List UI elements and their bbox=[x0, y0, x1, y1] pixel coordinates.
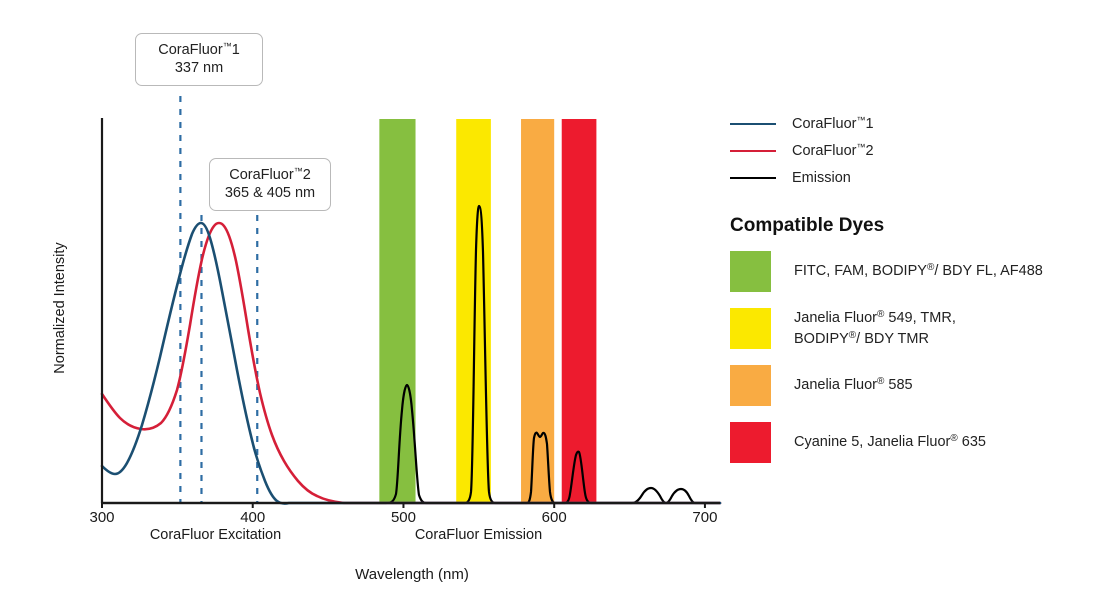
y-axis-label: Normalized Intensity bbox=[52, 213, 68, 403]
dye-band-red bbox=[562, 119, 597, 503]
callout-corafluor2-line2: 365 & 405 nm bbox=[220, 184, 320, 202]
legend-line-swatch bbox=[730, 177, 776, 179]
trademark-icon: ™ bbox=[223, 41, 232, 51]
callout-corafluor1-line1: CoraFluor™1 bbox=[146, 41, 252, 59]
legend-series-row-3: Emission bbox=[730, 164, 1100, 191]
legend-dye-label: Janelia Fluor® 585 bbox=[794, 375, 913, 396]
region-label-emission: CoraFluor Emission bbox=[406, 527, 551, 543]
x-tick-label-300: 300 bbox=[72, 509, 132, 526]
legend-series-row-1: CoraFluor™1 bbox=[730, 110, 1100, 137]
registered-icon: ® bbox=[849, 330, 856, 341]
trademark-icon: ™ bbox=[856, 115, 865, 125]
spectra-figure: CoraFluor™1 337 nm CoraFluor™2 365 & 405… bbox=[0, 0, 1110, 612]
trademark-icon: ™ bbox=[294, 166, 303, 176]
legend-dye-row-4: Cyanine 5, Janelia Fluor® 635 bbox=[730, 422, 1100, 463]
legend-line-swatch bbox=[730, 150, 776, 152]
legend-color-swatch bbox=[730, 251, 771, 292]
compatible-dyes-heading: Compatible Dyes bbox=[730, 215, 1100, 237]
legend-dye-label-line: Janelia Fluor® 549, TMR, bbox=[794, 308, 956, 329]
registered-icon: ® bbox=[927, 262, 934, 273]
legend-dye-row-1: FITC, FAM, BODIPY®/ BDY FL, AF488 bbox=[730, 251, 1100, 292]
legend-color-swatch bbox=[730, 422, 771, 463]
legend-series-label: CoraFluor™2 bbox=[792, 142, 874, 159]
legend-series-label: Emission bbox=[792, 170, 851, 186]
legend-dye-label: FITC, FAM, BODIPY®/ BDY FL, AF488 bbox=[794, 261, 1043, 282]
legend-dye-row-2: Janelia Fluor® 549, TMR,BODIPY®/ BDY TMR bbox=[730, 308, 1100, 349]
trademark-icon: ™ bbox=[856, 142, 865, 152]
x-tick-label-700: 700 bbox=[675, 509, 735, 526]
x-tick-label-600: 600 bbox=[524, 509, 584, 526]
legend-dye-label: Janelia Fluor® 549, TMR,BODIPY®/ BDY TMR bbox=[794, 308, 956, 349]
legend-line-swatch bbox=[730, 123, 776, 125]
legend-series-row-2: CoraFluor™2 bbox=[730, 137, 1100, 164]
series-legend-list: CoraFluor™1CoraFluor™2Emission bbox=[730, 110, 1100, 191]
legend-dye-label-line: Janelia Fluor® 585 bbox=[794, 375, 913, 396]
x-axis-label: Wavelength (nm) bbox=[287, 566, 537, 583]
legend-dye-label-line: FITC, FAM, BODIPY®/ BDY FL, AF488 bbox=[794, 261, 1043, 282]
callout-corafluor1-line2: 337 nm bbox=[146, 59, 252, 77]
callout-corafluor2: CoraFluor™2 365 & 405 nm bbox=[209, 158, 331, 211]
legend-dye-row-3: Janelia Fluor® 585 bbox=[730, 365, 1100, 406]
x-tick-label-400: 400 bbox=[223, 509, 283, 526]
dye-band-orange bbox=[521, 119, 554, 503]
legend-dye-label-line: Cyanine 5, Janelia Fluor® 635 bbox=[794, 432, 986, 453]
legend-color-swatch bbox=[730, 365, 771, 406]
registered-icon: ® bbox=[877, 376, 884, 387]
callout-corafluor2-line1: CoraFluor™2 bbox=[220, 166, 320, 184]
compatible-dyes-list: FITC, FAM, BODIPY®/ BDY FL, AF488Janelia… bbox=[730, 251, 1100, 463]
x-tick-label-500: 500 bbox=[373, 509, 433, 526]
legend: CoraFluor™1CoraFluor™2Emission Compatibl… bbox=[730, 110, 1100, 479]
registered-icon: ® bbox=[877, 309, 884, 320]
dye-band-green bbox=[379, 119, 415, 503]
callout-corafluor1: CoraFluor™1 337 nm bbox=[135, 33, 263, 86]
registered-icon: ® bbox=[950, 433, 957, 444]
legend-dye-label: Cyanine 5, Janelia Fluor® 635 bbox=[794, 432, 986, 453]
legend-series-label: CoraFluor™1 bbox=[792, 115, 874, 132]
legend-color-swatch bbox=[730, 308, 771, 349]
region-label-excitation: CoraFluor Excitation bbox=[143, 527, 288, 543]
legend-dye-label-line: BODIPY®/ BDY TMR bbox=[794, 329, 956, 350]
